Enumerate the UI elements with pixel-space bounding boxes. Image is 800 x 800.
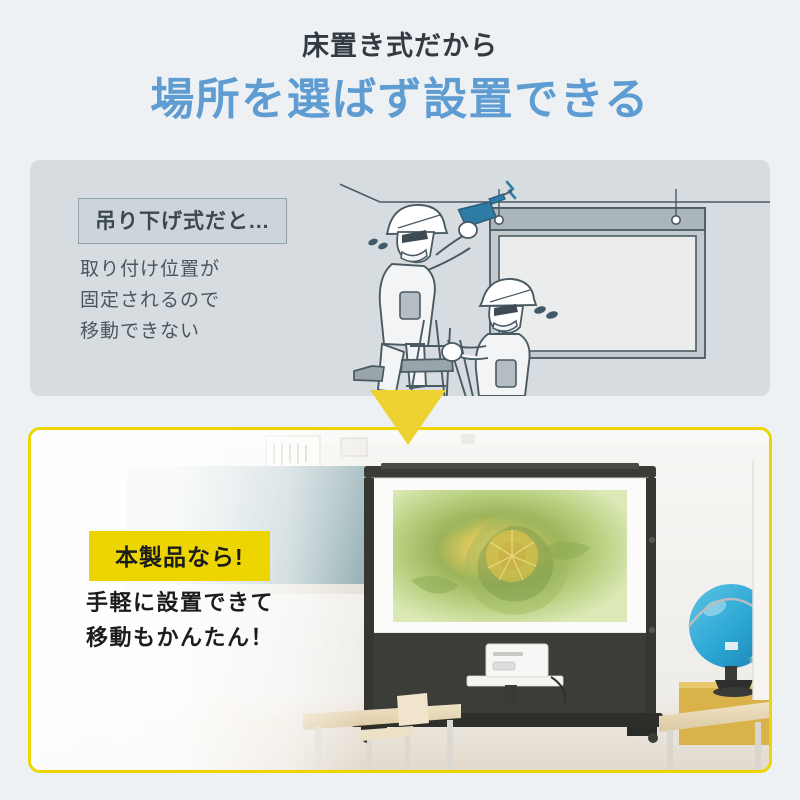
hanging-installation-illustration <box>340 160 770 396</box>
product-photo-panel: 本製品なら! 手軽に設置できて 移動もかんたん！ <box>28 427 772 773</box>
product-badge: 本製品なら! <box>89 531 270 581</box>
hanging-type-description: 取り付け位置が 固定されるので 移動できない <box>80 255 220 347</box>
page-root: 床置き式だから 場所を選ばず設置できる 吊り下げ式だと... 取り付け位置が 固… <box>0 0 800 800</box>
hanging-type-tag: 吊り下げ式だと... <box>78 198 287 244</box>
down-arrow-icon <box>370 390 446 445</box>
page-title: 床置き式だから 場所を選ばず設置できる <box>0 30 800 127</box>
headline-subtitle: 床置き式だから <box>0 30 800 64</box>
hanging-type-panel: 吊り下げ式だと... 取り付け位置が 固定されるので 移動できない <box>30 160 770 396</box>
product-description: 手軽に設置できて 移動もかんたん！ <box>86 586 274 656</box>
headline-main: 場所を選ばず設置できる <box>0 72 800 127</box>
